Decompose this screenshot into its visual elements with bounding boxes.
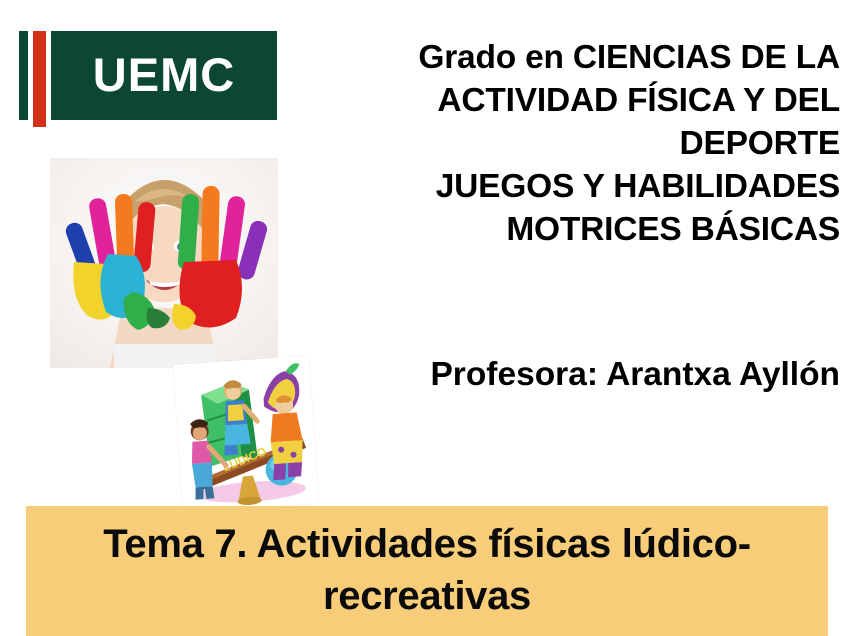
logo-green-bar [19,31,28,120]
children-seesaw-clipart: LUDICO [173,355,319,512]
slide-canvas: UEMC Grado en CIENCIAS DE LA ACTIVIDAD F… [0,0,848,636]
title-line-4: JUEGOS Y HABILIDADES [300,165,840,208]
topic-banner: Tema 7. Actividades físicas lúdico- recr… [26,506,828,636]
title-line-3: DEPORTE [300,122,840,165]
banner-line-1: Tema 7. Actividades físicas lúdico- [103,522,751,566]
title-line-2: ACTIVIDAD FÍSICA Y DEL [300,79,840,122]
professor-byline: Profesora: Arantxa Ayllón [300,353,840,396]
child-painted-hands-illustration [50,158,278,368]
title-line-5: MOTRICES BÁSICAS [300,208,840,251]
uemc-logo: UEMC [19,31,277,127]
child-painted-hands-photo [50,158,278,368]
logo-red-bar [33,31,46,127]
topic-banner-text: Tema 7. Actividades físicas lúdico- recr… [56,518,798,622]
seesaw-illustration: LUDICO [173,355,319,512]
page-title: Grado en CIENCIAS DE LA ACTIVIDAD FÍSICA… [300,36,840,251]
title-line-1: Grado en CIENCIAS DE LA [300,36,840,79]
logo-wordmark: UEMC [51,31,277,120]
banner-line-2: recreativas [323,574,531,618]
